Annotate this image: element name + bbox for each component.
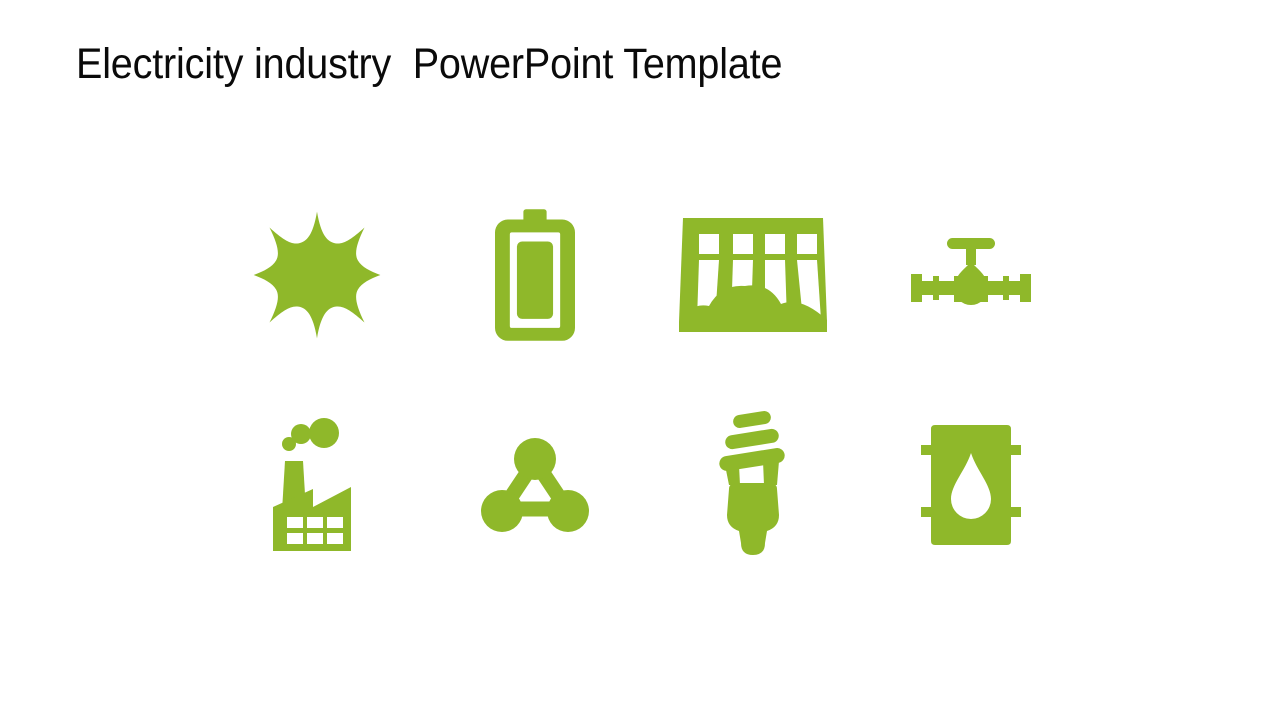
factory-window <box>327 533 343 544</box>
icon-grid <box>208 170 1080 590</box>
icon-cell-pipe-valve[interactable] <box>862 170 1080 380</box>
pipe-right-run <box>985 281 1005 295</box>
pipe-left-flange-outer <box>911 274 922 302</box>
factory-window <box>287 517 303 528</box>
cfl-coil <box>732 410 772 429</box>
sunburst-icon <box>251 209 383 341</box>
cfl-coil-leg <box>763 461 779 485</box>
pipe-valve-icon <box>909 236 1033 314</box>
icon-cell-hydro-dam[interactable] <box>644 170 862 380</box>
icon-cell-cfl-bulb[interactable] <box>644 380 862 590</box>
factory-window <box>307 533 323 544</box>
valve-handle <box>947 238 995 249</box>
molecule-atom-top <box>514 438 556 480</box>
factory-window <box>327 517 343 528</box>
icon-cell-battery[interactable] <box>426 170 644 380</box>
slide-canvas: Electricity industry PowerPoint Template <box>0 0 1280 720</box>
barrel-rib <box>921 445 932 455</box>
smoke-puff-large <box>309 418 339 448</box>
smoke-puff-small <box>282 437 296 451</box>
molecule-icon <box>481 433 589 537</box>
cfl-coil-leg <box>725 465 740 485</box>
factory-window <box>287 533 303 544</box>
barrel-rib <box>921 507 932 517</box>
cfl-bulb-icon <box>707 411 799 559</box>
molecule-atom-right <box>547 490 589 532</box>
molecule-atom-left <box>481 490 523 532</box>
cfl-base <box>727 483 779 555</box>
hydro-dam-icon <box>677 216 829 334</box>
battery-charge-level <box>517 241 553 318</box>
pipe-right-flange-outer <box>1020 274 1031 302</box>
icon-cell-molecule[interactable] <box>426 380 644 590</box>
barrel-rib <box>1010 507 1021 517</box>
pipe-left-run <box>937 281 957 295</box>
barrel-rib <box>1010 445 1021 455</box>
factory-icon <box>269 417 365 553</box>
factory-window <box>307 517 323 528</box>
battery-icon <box>495 209 575 341</box>
icon-cell-oil-barrel[interactable] <box>862 380 1080 590</box>
icon-cell-factory[interactable] <box>208 380 426 590</box>
icon-cell-sunburst[interactable] <box>208 170 426 380</box>
cfl-coil <box>724 428 780 450</box>
oil-barrel-icon <box>919 423 1023 547</box>
page-title: Electricity industry PowerPoint Template <box>76 40 782 88</box>
